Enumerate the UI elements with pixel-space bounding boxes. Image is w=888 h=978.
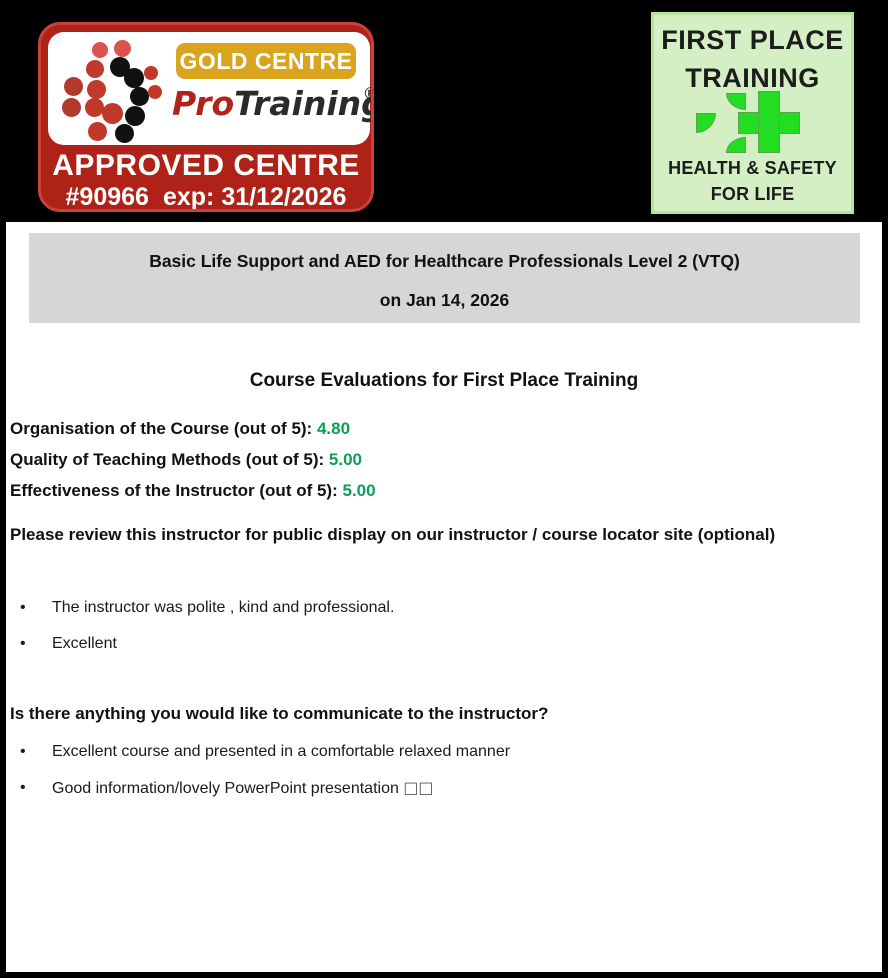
wordmark-trainings: Trainings [234, 84, 374, 123]
logo-band: GOLD CENTRE ProTrainings.uk ® APPROVED C… [0, 0, 888, 222]
rating-label: Quality of Teaching Methods (out of 5): [10, 450, 324, 469]
rating-label: Organisation of the Course (out of 5): [10, 419, 312, 438]
rating-row: Quality of Teaching Methods (out of 5): … [10, 444, 870, 475]
cross-shape [738, 91, 800, 153]
rating-row: Effectiveness of the Instructor (out of … [10, 475, 870, 506]
list-item: • Excellent course and presented in a co… [10, 734, 870, 770]
registered-trademark-icon: ® [364, 84, 374, 104]
document-sheet: Basic Life Support and AED for Healthcar… [6, 222, 882, 972]
list-item: • The instructor was polite , kind and p… [10, 590, 870, 626]
public-review-question: Please review this instructor for public… [10, 520, 850, 550]
rating-score: 5.00 [342, 481, 375, 500]
list-item-text: Excellent [52, 635, 117, 652]
bullet-icon: • [20, 626, 26, 662]
bullet-icon: • [20, 770, 26, 806]
approved-centre-label: APPROVED CENTRE [41, 149, 371, 183]
rating-score: 4.80 [317, 419, 350, 438]
list-item: • Excellent [10, 626, 870, 662]
bullet-icon: • [20, 590, 26, 626]
unrendered-glyph-icon: □□ [403, 770, 433, 806]
first-place-training-logo: FIRST PLACE TRAINING HEALTH & SAFETY FOR… [651, 12, 854, 214]
course-title: Basic Life Support and AED for Healthcar… [29, 251, 860, 272]
cross-bar-vertical [758, 91, 780, 153]
instructor-feedback-question: Is there anything you would like to comm… [10, 699, 850, 729]
rating-label: Effectiveness of the Instructor (out of … [10, 481, 338, 500]
centre-expiry: exp: 31/12/2026 [163, 183, 346, 211]
protrainings-badge-upper-panel: GOLD CENTRE ProTrainings.uk ® [48, 32, 370, 145]
wordmark-pro: Pro [172, 84, 234, 123]
list-item-text: The instructor was polite , kind and pro… [52, 599, 394, 616]
fpt-line-1: FIRST PLACE [654, 25, 851, 56]
list-item-text: Excellent course and presented in a comf… [52, 743, 510, 760]
course-title-banner: Basic Life Support and AED for Healthcar… [29, 233, 860, 323]
fpt-line-3: HEALTH & SAFETY [654, 158, 851, 179]
list-item: • Good information/lovely PowerPoint pre… [10, 770, 870, 807]
rating-score: 5.00 [329, 450, 362, 469]
centre-number-and-expiry: #90966exp: 31/12/2026 [41, 183, 371, 212]
protrainings-dot-swirl-icon [62, 40, 174, 140]
ratings-list: Organisation of the Course (out of 5): 4… [10, 413, 870, 506]
rating-row: Organisation of the Course (out of 5): 4… [10, 413, 870, 444]
fpt-line-4: FOR LIFE [654, 184, 851, 205]
centre-number: #90966 [66, 183, 149, 211]
gold-centre-pill: GOLD CENTRE [176, 43, 356, 79]
protrainings-approved-centre-badge: GOLD CENTRE ProTrainings.uk ® APPROVED C… [38, 22, 374, 212]
public-review-responses: • The instructor was polite , kind and p… [10, 590, 870, 662]
evaluations-heading: Course Evaluations for First Place Train… [6, 370, 882, 392]
bullet-icon: • [20, 734, 26, 770]
course-date: on Jan 14, 2026 [29, 290, 860, 311]
instructor-feedback-responses: • Excellent course and presented in a co… [10, 734, 870, 807]
evaluation-report-page: GOLD CENTRE ProTrainings.uk ® APPROVED C… [0, 0, 888, 978]
green-medical-cross-icon [696, 91, 816, 155]
fpt-line-2: TRAINING [654, 63, 851, 94]
list-item-text: Good information/lovely PowerPoint prese… [52, 780, 403, 797]
cross-arc-left [696, 113, 716, 133]
protrainings-wordmark: ProTrainings.uk ® [172, 84, 372, 136]
